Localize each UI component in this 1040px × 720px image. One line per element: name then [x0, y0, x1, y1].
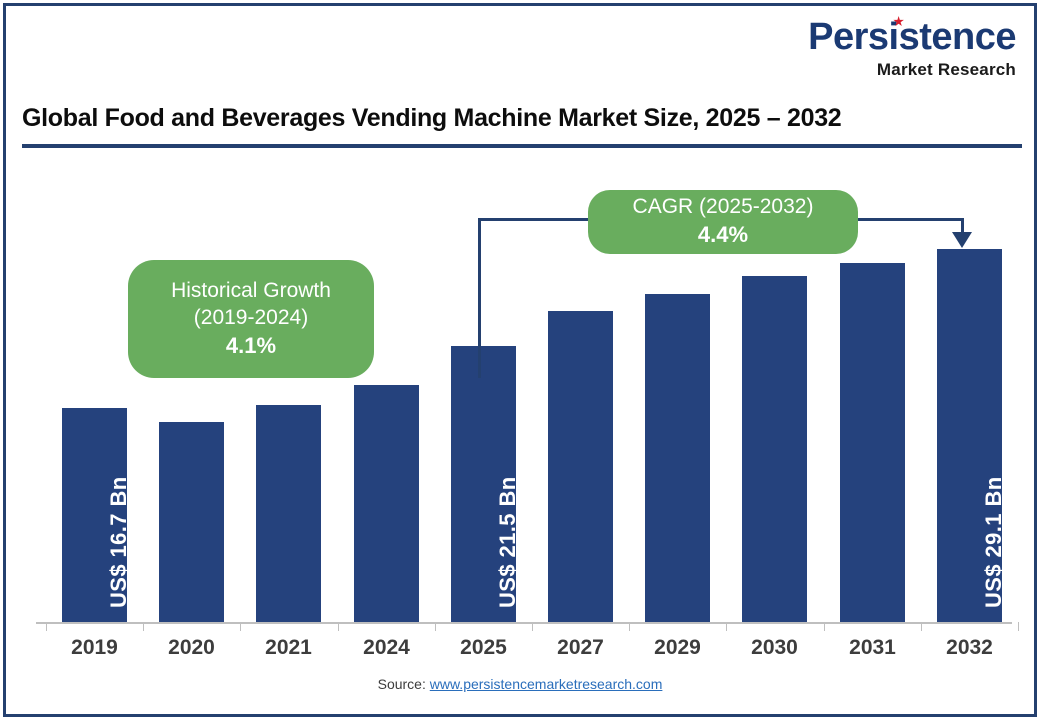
x-axis-label-2019: 2019	[62, 636, 127, 660]
x-axis-line	[36, 622, 1012, 624]
x-axis-label-2021: 2021	[256, 636, 321, 660]
x-tick-2021	[240, 622, 241, 631]
bar-value-label-2025: US$ 21.5 Bn	[495, 476, 521, 608]
x-axis-label-2020: 2020	[159, 636, 224, 660]
historical-growth-callout: Historical Growth (2019-2024) 4.1%	[128, 260, 374, 378]
cagr-arrow-icon	[952, 232, 972, 248]
bar-2029	[645, 294, 710, 622]
x-tick-2030	[726, 622, 727, 631]
x-axis-label-2025: 2025	[451, 636, 516, 660]
x-tick-2019	[46, 622, 47, 631]
cagr-callout: CAGR (2025-2032) 4.4%	[588, 190, 858, 254]
x-tick-end	[1018, 622, 1019, 631]
x-tick-2029	[629, 622, 630, 631]
bar-2027	[548, 311, 613, 622]
x-tick-2025	[435, 622, 436, 631]
bar-2030	[742, 276, 807, 622]
bar-2031	[840, 263, 905, 622]
historical-growth-value: 4.1%	[226, 332, 276, 360]
x-tick-2020	[143, 622, 144, 631]
source-footer: Source: www.persistencemarketresearch.co…	[0, 676, 1040, 692]
historical-growth-line1: Historical Growth	[171, 278, 331, 305]
bar-2021	[256, 405, 321, 622]
x-axis-label-2032: 2032	[937, 636, 1002, 660]
source-prefix: Source:	[378, 676, 430, 692]
x-tick-2032	[921, 622, 922, 631]
cagr-value: 4.4%	[698, 221, 748, 249]
bar-value-label-2019: US$ 16.7 Bn	[106, 476, 132, 608]
x-tick-2027	[532, 622, 533, 631]
x-axis-label-2024: 2024	[354, 636, 419, 660]
x-axis-label-2031: 2031	[840, 636, 905, 660]
x-axis-label-2030: 2030	[742, 636, 807, 660]
cagr-connector-left-stem	[478, 218, 481, 378]
chart-page: Persistence Market Research Global Food …	[0, 0, 1040, 720]
cagr-line1: CAGR (2025-2032)	[633, 194, 814, 221]
x-axis-label-2029: 2029	[645, 636, 710, 660]
x-tick-2024	[338, 622, 339, 631]
historical-growth-line2: (2019-2024)	[194, 305, 308, 332]
bar-2020	[159, 422, 224, 622]
x-tick-2031	[824, 622, 825, 631]
bar-value-label-2032: US$ 29.1 Bn	[981, 476, 1007, 608]
bar-2024	[354, 385, 419, 622]
source-link[interactable]: www.persistencemarketresearch.com	[430, 676, 663, 692]
x-axis-label-2027: 2027	[548, 636, 613, 660]
